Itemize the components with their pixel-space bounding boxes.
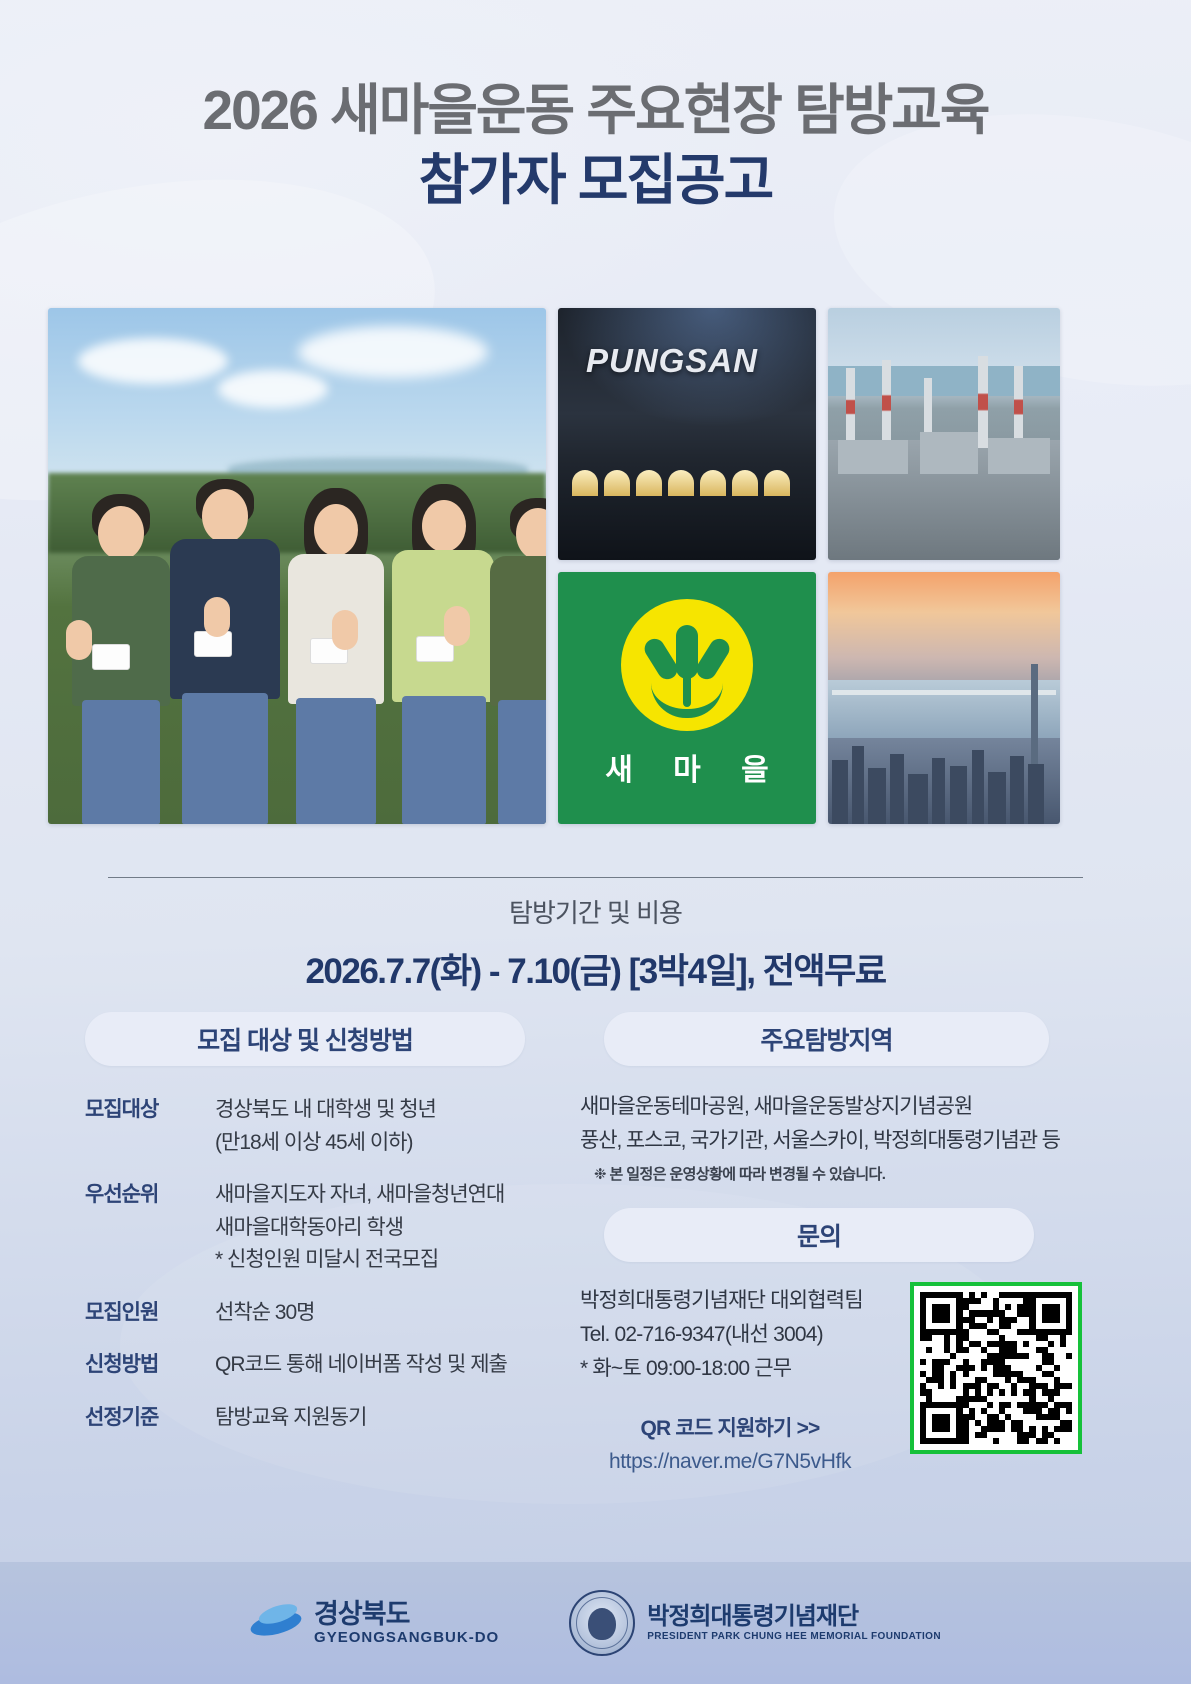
detail-row: 선정기준 탐방교육 지원동기 — [85, 1402, 535, 1435]
footer-bar: 경상북도 GYEONGSANGBUK-DO 박정희대통령기념재단 PRESIDE… — [0, 1562, 1191, 1684]
row-value-line: 새마을지도자 자녀, 새마을청년연대 — [215, 1179, 504, 1212]
recruitment-rows: 모집대상 경상북도 내 대학생 및 청년 (만18세 이상 45세 이하) 우선… — [85, 1094, 535, 1434]
qr-apply-cta[interactable]: QR 코드 지원하기 >> https://naver.me/G7N5vHfk — [580, 1412, 880, 1474]
schedule-note: ❉ 본 일정은 운영상황에 따라 변경될 수 있습니다. — [594, 1163, 1080, 1184]
row-value: QR코드 통해 네이버폼 작성 및 제출 — [215, 1349, 507, 1382]
region-line: 풍산, 포스코, 국가기관, 서울스카이, 박정희대통령기념관 등 — [580, 1124, 1080, 1158]
regions-list: 새마을운동테마공원, 새마을운동발상지기념공원 풍산, 포스코, 국가기관, 서… — [580, 1090, 1080, 1157]
qr-url-link[interactable]: https://naver.me/G7N5vHfk — [580, 1450, 880, 1474]
gyeongsangbuk-do-logo: 경상북도 GYEONGSANGBUK-DO — [250, 1600, 499, 1647]
region-line: 새마을운동테마공원, 새마을운동발상지기념공원 — [580, 1090, 1080, 1124]
qr-code-image[interactable] — [910, 1282, 1082, 1454]
row-value-line: 탐방교육 지원동기 — [215, 1402, 366, 1435]
photo-seoul-skyline — [828, 572, 1060, 824]
photo-pungsan-showroom: PUNGSAN — [558, 308, 816, 560]
saemaul-emblem-icon — [621, 599, 753, 731]
row-value-line: 새마을대학동아리 학생 — [215, 1212, 504, 1245]
saemaul-flag-text: 새 마 을 — [589, 745, 784, 789]
photo-steel-mill — [828, 308, 1060, 560]
qr-cta-label: QR 코드 지원하기 >> — [580, 1412, 880, 1442]
gyeongbuk-name-ko: 경상북도 — [314, 1600, 499, 1630]
foundation-name-ko: 박정희대통령기념재단 — [647, 1604, 941, 1630]
photo-saemaul-flag: 새 마 을 — [558, 572, 816, 824]
period-label: 탐방기간 및 비용 — [0, 893, 1191, 930]
row-value-note: * 신청인원 미달시 전국모집 — [215, 1244, 504, 1277]
row-value-line: (만18세 이상 45세 이하) — [215, 1127, 436, 1160]
row-value: 경상북도 내 대학생 및 청년 (만18세 이상 45세 이하) — [215, 1094, 436, 1159]
row-value-line: 선착순 30명 — [215, 1297, 314, 1330]
detail-row: 신청방법 QR코드 통해 네이버폼 작성 및 제출 — [85, 1349, 535, 1382]
contact-block: 박정희대통령기념재단 대외협력팀 Tel. 02-716-9347(내선 300… — [580, 1284, 1080, 1474]
period-value: 2026.7.7(화) - 7.10(금) [3박4일], 전액무료 — [0, 943, 1191, 994]
regions-column: 주요탐방지역 새마을운동테마공원, 새마을운동발상지기념공원 풍산, 포스코, … — [580, 1012, 1080, 1474]
row-value-line: 경상북도 내 대학생 및 청년 — [215, 1094, 436, 1127]
contact-heading: 문의 — [604, 1208, 1034, 1262]
title-line-2: 참가자 모집공고 — [0, 147, 1191, 214]
row-key: 모집인원 — [85, 1297, 215, 1330]
section-divider — [108, 877, 1083, 878]
row-key: 우선순위 — [85, 1179, 215, 1212]
gyeongbuk-name-en: GYEONGSANGBUK-DO — [314, 1629, 499, 1646]
pungsan-logo-text: PUNGSAN — [586, 342, 758, 380]
detail-row: 우선순위 새마을지도자 자녀, 새마을청년연대 새마을대학동아리 학생 * 신청… — [85, 1179, 535, 1277]
foundation-seal-icon — [569, 1590, 635, 1656]
detail-row: 모집대상 경상북도 내 대학생 및 청년 (만18세 이상 45세 이하) — [85, 1094, 535, 1159]
photo-collage: PUNGSAN — [48, 308, 1060, 824]
row-value-line: QR코드 통해 네이버폼 작성 및 제출 — [215, 1349, 507, 1382]
title-line-1: 2026 새마을운동 주요현장 탐방교육 — [0, 78, 1191, 143]
recruitment-heading: 모집 대상 및 신청방법 — [85, 1012, 525, 1066]
park-chung-hee-foundation-logo: 박정희대통령기념재단 PRESIDENT PARK CHUNG HEE MEMO… — [569, 1590, 941, 1656]
poster-root: 2026 새마을운동 주요현장 탐방교육 참가자 모집공고 — [0, 0, 1191, 1684]
row-value: 탐방교육 지원동기 — [215, 1402, 366, 1435]
row-key: 선정기준 — [85, 1402, 215, 1435]
row-key: 모집대상 — [85, 1094, 215, 1127]
regions-heading: 주요탐방지역 — [604, 1012, 1049, 1066]
row-value: 새마을지도자 자녀, 새마을청년연대 새마을대학동아리 학생 * 신청인원 미달… — [215, 1179, 504, 1277]
photo-students-group — [48, 308, 546, 824]
page-title: 2026 새마을운동 주요현장 탐방교육 참가자 모집공고 — [0, 0, 1191, 214]
row-value: 선착순 30명 — [215, 1297, 314, 1330]
foundation-name-en: PRESIDENT PARK CHUNG HEE MEMORIAL FOUNDA… — [647, 1631, 941, 1642]
detail-row: 모집인원 선착순 30명 — [85, 1297, 535, 1330]
row-key: 신청방법 — [85, 1349, 215, 1382]
gyeongbuk-wave-icon — [250, 1602, 302, 1644]
recruitment-column: 모집 대상 및 신청방법 모집대상 경상북도 내 대학생 및 청년 (만18세 … — [85, 1012, 535, 1454]
details-columns: 모집 대상 및 신청방법 모집대상 경상북도 내 대학생 및 청년 (만18세 … — [0, 1012, 1191, 1512]
